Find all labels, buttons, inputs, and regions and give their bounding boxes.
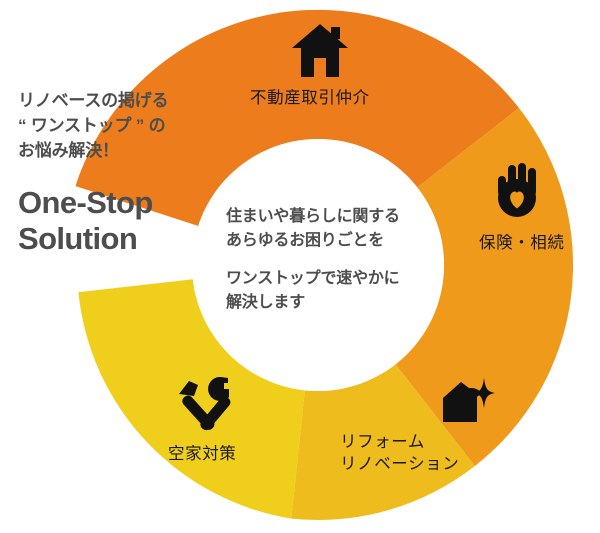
hand-heart-icon [494,160,544,222]
lead-line-2: “ ワンストップ ” の [18,113,228,138]
house-icon [291,23,349,79]
center-copy-block: 住まいや暮らしに関する あらゆるお困りごとを ワンストップで速やかに 解決します [226,205,456,315]
segment-label-reform[interactable]: リフォーム リノベーション [340,432,459,476]
infographic-stage: 不動産取引仲介 保険・相続 リフォーム リノベーション 空家対策 リノベースの掲… [0,0,600,533]
lead-line-1: リノベースの掲げる [18,88,228,113]
segment-label-line: リノベーション [340,454,459,476]
lead-line-3: お悩み解決！ [18,138,228,163]
center-para1-line2: あらゆるお困りごとを [226,229,456,253]
segment-label-line: 保険・相続 [479,233,565,255]
center-para2-line2: 解決します [226,291,456,315]
segment-label-line: 不動産取引仲介 [250,88,370,110]
segment-label-realestate[interactable]: 不動産取引仲介 [250,88,370,110]
headline-line-1: One-Stop [18,185,228,221]
segment-label-insurance[interactable]: 保険・相続 [479,233,565,255]
center-para1-line1: 住まいや暮らしに関する [226,205,456,229]
center-para2-line1: ワンストップで速やかに [226,267,456,291]
page-title: One-Stop Solution [18,185,228,257]
hammer-wrench-icon [176,375,236,431]
headline-line-2: Solution [18,221,228,257]
segment-label-vacant[interactable]: 空家対策 [168,444,236,466]
sparkle-house-icon [437,378,495,430]
segment-label-line: リフォーム [340,432,459,454]
segment-label-line: 空家対策 [168,444,236,466]
left-copy-block: リノベースの掲げる “ ワンストップ ” の お悩み解決！ One-Stop S… [18,88,228,257]
